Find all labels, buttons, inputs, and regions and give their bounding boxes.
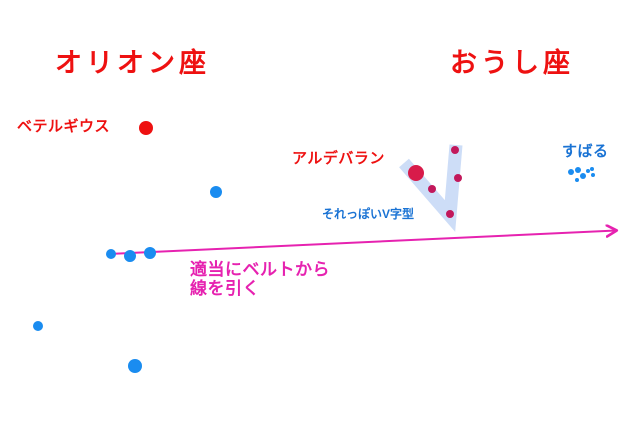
orion-belt-stars [106,247,156,262]
constellation-label-taurus: おうし座 [450,48,574,78]
annotation-belt-note: 適当にベルトから 線を引く [190,260,330,298]
subaru-cluster-stars [568,167,595,182]
constellation-label-orion: オリオン座 [55,48,210,78]
annotation-v-shape-note: それっぽいV字型 [322,208,414,221]
star-label-aldebaran: アルデバラン [292,151,385,168]
star-label-betelgeuse: ベテルギウス [17,119,110,136]
annotation-belt-note-line1: 適当にベルトから [190,260,330,279]
annotation-belt-note-line2: 線を引く [190,279,330,298]
star-label-subaru: すばる [562,144,609,161]
star-aldebaran-dot [408,165,424,181]
star-chart-canvas: オリオン座 おうし座 ベテルギウス アルデバラン すばる それっぽいV字型 適当… [0,0,640,426]
star-betelgeuse-dot [139,121,153,135]
v-shape-marker [404,145,456,216]
pointer-arrow-line [108,231,616,255]
